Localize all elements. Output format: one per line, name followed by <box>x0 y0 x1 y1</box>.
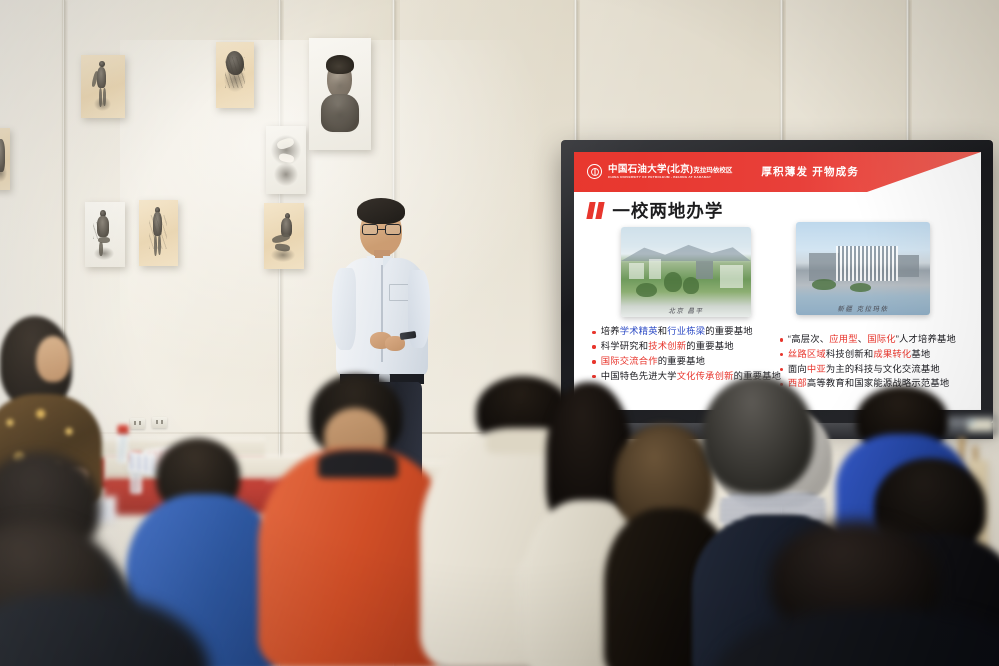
presenter-arm-left <box>332 268 356 350</box>
bullet-text-run: 面向 <box>788 364 807 374</box>
sketch-seated-figure <box>85 202 125 267</box>
presenter-hair <box>357 198 405 224</box>
attendee-jacket <box>0 594 210 666</box>
sketch-ink <box>269 131 303 188</box>
bullet-dot-icon <box>780 338 783 341</box>
slide-bullet-text: 国际交流合作的重要基地 <box>601 356 705 367</box>
bullet-text-run: 应用型 <box>829 334 858 344</box>
title-quote-marks-icon <box>588 202 604 219</box>
slide-bullet: 面向中亚为主的科技与文化交流基地 <box>780 364 956 375</box>
attendee-suit <box>710 608 999 666</box>
slide-bullet-text: 科学研究和技术创新的重要基地 <box>601 341 734 352</box>
bullet-text-run: 技术创新 <box>648 341 686 351</box>
bullet-text-run: 培养 <box>601 326 620 336</box>
shirt-collar-right <box>383 256 392 269</box>
bullet-text-run: 的重要基地 <box>658 356 706 366</box>
xinjiang-karamay-campus-photo: 新疆 克拉玛依 <box>796 222 930 315</box>
slide-bullet-text: 丝路区域科技创新和成果转化基地 <box>788 349 931 360</box>
university-seal-icon <box>587 164 602 179</box>
slide-bullet: 丝路区域科技创新和成果转化基地 <box>780 349 956 360</box>
presentation-slide: 中国石油大学(北京)克拉玛依校区 CHINA UNIVERSITY OF PET… <box>574 152 981 410</box>
attendee-navy-foreground <box>0 520 200 666</box>
bullet-dot-icon <box>592 345 595 348</box>
attendee-bald-foreground-right <box>694 376 822 516</box>
slide-bullet: 科学研究和技术创新的重要基地 <box>592 341 781 352</box>
attendee-collar <box>318 450 398 478</box>
bullet-text-run: 行业栋梁 <box>667 326 705 336</box>
sketch-ink <box>85 60 122 113</box>
slide-university-name: 中国石油大学(北京)克拉玛依校区 CHINA UNIVERSITY OF PET… <box>608 165 732 179</box>
sketch-reclining-figure <box>264 203 304 269</box>
sketch-ink <box>267 208 301 263</box>
sketch-standing-nude-study <box>139 200 178 266</box>
campus-name-cn: 克拉玛依校区 <box>693 167 732 174</box>
university-name-cn: 中国石油大学 <box>608 164 667 175</box>
bullet-text-run: 科技创新和 <box>826 349 874 359</box>
university-name-en: CHINA UNIVERSITY OF PETROLEUM - BEIJING … <box>608 176 732 179</box>
slide-bullet-text: “高层次、应用型、国际化”人才培养基地 <box>788 334 956 345</box>
slide-bullet-text: 培养学术精英和行业栋梁的重要基地 <box>601 326 753 337</box>
photo-content <box>796 222 930 315</box>
wall-socket-2[interactable] <box>152 417 167 428</box>
slide-bullet: 国际交流合作的重要基地 <box>592 356 781 367</box>
slide-bullet-text: 面向中亚为主的科技与文化交流基地 <box>788 364 940 375</box>
sketch-plaster-head-study <box>216 42 254 108</box>
sketch-ink <box>314 47 366 141</box>
bullet-text-run: 国际化 <box>867 334 896 344</box>
bullet-text-run: 成果转化 <box>873 349 911 359</box>
sketch-ink <box>0 133 9 185</box>
slide-bullet: 培养学术精英和行业栋梁的重要基地 <box>592 326 781 337</box>
bullet-dot-icon <box>592 360 595 363</box>
bullet-text-run: 国际交流合作 <box>601 356 658 366</box>
photo-content <box>621 227 751 317</box>
sketch-small-figure-left-edge <box>0 128 10 190</box>
display-screen: 中国石油大学(北京)克拉玛依校区 CHINA UNIVERSITY OF PET… <box>574 152 981 410</box>
bullet-text-run: 的重要基地 <box>686 341 734 351</box>
slide-title: 一校两地办学 <box>612 198 723 223</box>
bullet-text-run: 为主的科技与文化交流基地 <box>826 364 940 374</box>
bullet-text-run: “高层次、 <box>788 334 829 344</box>
bullet-dot-icon <box>780 353 783 356</box>
attendee-face <box>36 336 70 382</box>
conference-room-photo: 中国石油大学(北京)克拉玛依校区 CHINA UNIVERSITY OF PET… <box>0 0 999 666</box>
slide-bullet: “高层次、应用型、国际化”人才培养基地 <box>780 334 956 345</box>
attendee-orange-jacket <box>266 374 446 664</box>
sketch-drapery-study <box>266 126 306 194</box>
bullet-text-run: 中亚 <box>807 364 826 374</box>
bullet-dot-icon <box>780 368 783 371</box>
control-panel-label <box>968 419 993 431</box>
slide-slogan: 厚积薄发 开物成务 <box>761 164 859 179</box>
bullet-text-run: 、 <box>858 334 868 344</box>
bullet-text-run: 科学研究和 <box>601 341 649 351</box>
bullet-text-run: ”人才培养基地 <box>896 334 956 344</box>
eyeglasses-icon <box>362 224 401 235</box>
slide-title-row: 一校两地办学 <box>588 198 724 223</box>
bullet-text-run: 和 <box>658 326 668 336</box>
wall-socket-1[interactable] <box>130 418 145 429</box>
slide-header: 中国石油大学(北京)克拉玛依校区 CHINA UNIVERSITY OF PET… <box>574 152 981 192</box>
bullet-dot-icon <box>592 331 595 334</box>
bullet-text-run: 丝路区域 <box>788 349 826 359</box>
attendee-head <box>702 376 814 494</box>
photo-caption: 新疆 克拉玛依 <box>796 303 930 313</box>
sketch-portrait-young-man <box>309 38 371 150</box>
university-city-cn: (北京) <box>667 164 694 175</box>
beijing-changping-campus-photo: 北京 昌平 <box>621 227 751 317</box>
sketch-ink <box>142 205 175 260</box>
bullet-text-run: 学术精英 <box>620 326 658 336</box>
bullet-text-run: 基地 <box>911 349 930 359</box>
photo-caption: 北京 昌平 <box>621 305 751 315</box>
attendee-dark-suit-bottom-right <box>730 520 999 666</box>
shirt-collar-left <box>366 256 375 269</box>
sketch-ink <box>88 207 122 262</box>
bullet-text-run: 的重要基地 <box>705 326 753 336</box>
sketch-standing-figure <box>81 55 125 118</box>
sketch-ink <box>219 47 251 102</box>
